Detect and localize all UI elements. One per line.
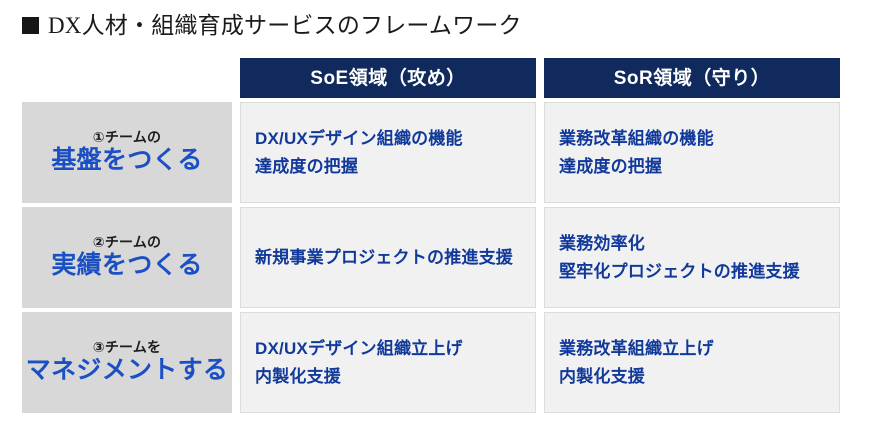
cell-row1-sor-line2: 達成度の把握 [559, 156, 825, 177]
row-label-2-main: 実績をつくる [51, 252, 202, 280]
page-title: DX人材・組織育成サービスのフレームワーク [22, 14, 522, 37]
cell-row2-soe-line1: 新規事業プロジェクトの推進支援 [255, 247, 521, 268]
cell-row1-sor: 業務改革組織の機能 達成度の把握 [544, 102, 840, 203]
row-label-3-sub: ③チームを [93, 340, 161, 355]
column-header-sor: SoR領域（守り） [544, 58, 840, 98]
page-title-text: DX人材・組織育成サービスのフレームワーク [48, 14, 522, 37]
cell-row3-soe: DX/UXデザイン組織立上げ 内製化支援 [240, 312, 536, 413]
cell-row3-sor: 業務改革組織立上げ 内製化支援 [544, 312, 840, 413]
cell-row3-sor-line1: 業務改革組織立上げ [559, 338, 825, 359]
row-label-3-main: マネジメントする [26, 357, 228, 385]
cell-row1-sor-line1: 業務改革組織の機能 [559, 128, 825, 149]
cell-row1-soe-line1: DX/UXデザイン組織の機能 [255, 128, 521, 149]
cell-row2-soe: 新規事業プロジェクトの推進支援 [240, 207, 536, 308]
cell-row3-soe-line2: 内製化支援 [255, 366, 521, 387]
row-label-1-main: 基盤をつくる [51, 147, 202, 175]
cell-row1-soe: DX/UXデザイン組織の機能 達成度の把握 [240, 102, 536, 203]
row-label-3: ③チームを マネジメントする [22, 312, 232, 413]
cell-row2-sor: 業務効率化 堅牢化プロジェクトの推進支援 [544, 207, 840, 308]
row-label-1-sub: ①チームの [93, 130, 161, 145]
framework-grid: SoE領域（攻め） SoR領域（守り） ①チームの 基盤をつくる DX/UXデザ… [22, 58, 840, 413]
cell-row1-soe-line2: 達成度の把握 [255, 156, 521, 177]
column-header-soe: SoE領域（攻め） [240, 58, 536, 98]
cell-row2-sor-line2: 堅牢化プロジェクトの推進支援 [559, 261, 825, 282]
cell-row3-sor-line2: 内製化支援 [559, 366, 825, 387]
grid-corner-spacer [22, 58, 232, 98]
row-label-2-sub: ②チームの [93, 235, 161, 250]
filled-square-bullet-icon [22, 17, 39, 34]
row-label-1: ①チームの 基盤をつくる [22, 102, 232, 203]
row-label-2: ②チームの 実績をつくる [22, 207, 232, 308]
cell-row3-soe-line1: DX/UXデザイン組織立上げ [255, 338, 521, 359]
cell-row2-sor-line1: 業務効率化 [559, 233, 825, 254]
